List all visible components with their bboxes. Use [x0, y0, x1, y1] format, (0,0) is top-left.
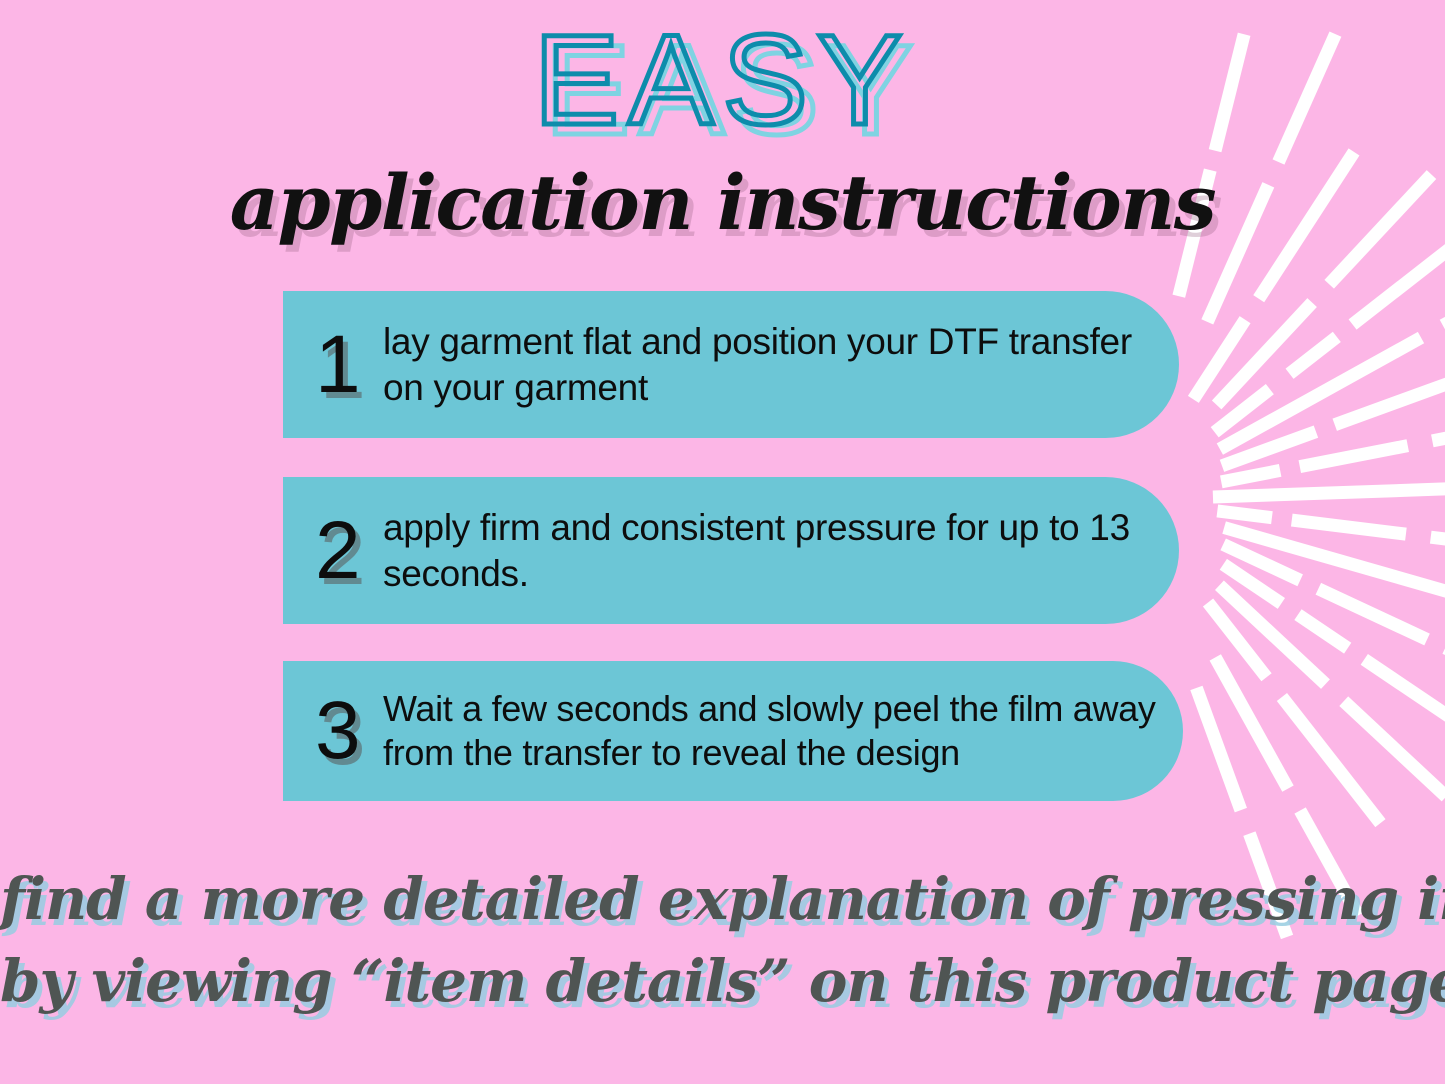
instruction-card: EASY EASY application instructions 1 lay…	[0, 0, 1445, 1084]
sunburst-ray-dash	[1220, 538, 1303, 586]
step-text-1: lay garment flat and position your DTF t…	[383, 319, 1179, 409]
sunburst-ray-dash	[1430, 531, 1445, 557]
step-number-3: 3	[315, 693, 383, 768]
sunburst-ray-dash	[1286, 332, 1341, 379]
sunburst-ray-dash	[1217, 505, 1273, 525]
sunburst-ray-dash	[1217, 332, 1424, 455]
sunburst-ray-dash	[1431, 415, 1445, 447]
sunburst-ray-dash	[1203, 598, 1272, 681]
step-item-3: 3 Wait a few seconds and slowly peel the…	[283, 661, 1183, 801]
sunburst-ray-dash	[1349, 239, 1445, 329]
step-number-2: 2	[315, 513, 383, 588]
sunburst-ray-dash	[1190, 686, 1247, 813]
sunburst-ray-dash	[1222, 521, 1445, 602]
sunburst-ray-dash	[1188, 316, 1251, 403]
sunburst-ray-dash	[1277, 693, 1386, 827]
sunburst-ray-dash	[1220, 464, 1281, 488]
sunburst-ray-dash	[1440, 274, 1445, 331]
sunburst-ray-dash	[1333, 378, 1445, 431]
step-text-3: Wait a few seconds and slowly peel the f…	[383, 687, 1183, 775]
sunburst-ray-dash	[1211, 384, 1274, 437]
step-item-2: 2 apply firm and consistent pressure for…	[283, 477, 1179, 624]
sunburst-ray-dash	[1361, 654, 1445, 757]
sunburst-ray-dash	[1220, 559, 1285, 609]
sunburst-ray-dash	[1213, 481, 1445, 503]
step-text-2: apply firm and consistent pressure for u…	[383, 505, 1179, 595]
step-number-1: 1	[315, 327, 383, 402]
sunburst-ray-dash	[1212, 298, 1317, 409]
step-item-1: 1 lay garment flat and position your DTF…	[283, 291, 1179, 438]
sunburst-ray-dash	[1215, 580, 1330, 688]
footer-line-1: find a more detailed explanation of pres…	[0, 858, 1445, 940]
sunburst-ray-dash	[1316, 583, 1430, 645]
sunburst-ray-dash	[1291, 514, 1407, 541]
sunburst-ray-dash	[1339, 696, 1445, 801]
sunburst-ray-dash	[1220, 425, 1318, 471]
page-heading: application instructions	[0, 158, 1445, 247]
sunburst-ray-dash	[1294, 609, 1351, 653]
footer-line-2: by viewing “item details” on this produc…	[0, 940, 1445, 1022]
sunburst-ray-dash	[1210, 654, 1294, 791]
easy-title: EASY EASY	[0, 12, 1445, 162]
easy-title-outline: EASY	[0, 12, 1445, 150]
sunburst-ray-dash	[1299, 439, 1409, 473]
footer-note: find a more detailed explanation of pres…	[0, 858, 1445, 1023]
